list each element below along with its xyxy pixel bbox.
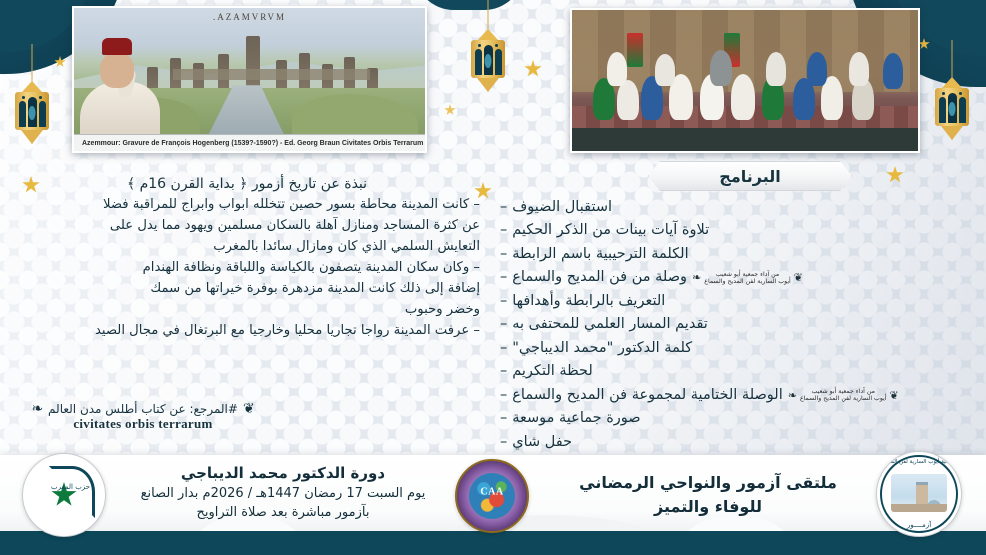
poster-canvas: AZAMVRVM. Azemmour: Gravure de François … xyxy=(0,0,986,555)
history-paragraph: التعايش السلمي الذي كان ومازال سائدا بال… xyxy=(14,237,480,257)
program-item: التعريف بالرابطة وأهدافها – xyxy=(500,290,970,313)
program-item-label: التعريف بالرابطة وأهدافها xyxy=(512,290,665,313)
footer-event-title: ملتقى آزمور والنواحي الرمضاني للوفاء وال… xyxy=(548,471,868,519)
program-note-line2: أيوب السارية لفن المديح والسماع xyxy=(704,279,791,286)
lantern-cap xyxy=(22,81,42,92)
source-reference: ❦ #المرجع: عن كتاب أطلس مدن العالم ❧ civ… xyxy=(18,398,268,432)
history-title: نبذة عن تاريخ أزمور ﴿ بداية القرن 16م ﴾ xyxy=(14,176,480,192)
engraving-artwork: AZAMVRVM. xyxy=(74,8,425,151)
ornament-icon: ❦ xyxy=(794,272,803,284)
program-item-dash: – xyxy=(500,290,507,313)
program-item-dash: – xyxy=(500,266,507,289)
program-item-dash: – xyxy=(500,313,507,336)
history-paragraph: عن كثرة المساجد ومنازل آهلة بالسكان مسلم… xyxy=(14,216,480,236)
group-photo-content xyxy=(572,10,918,151)
ornament-icon: ❧ xyxy=(31,401,43,417)
engraving-caption-year: 1572 xyxy=(423,140,427,147)
program-item: ❦ من آداء جمعية أبو شعيب أيوب السارية لف… xyxy=(500,384,970,407)
program-item-label: حفل شاي xyxy=(512,431,572,454)
program-note-line2: أيوب السارية لفن المديح والسماع xyxy=(800,396,887,403)
program-item-label: كلمة الدكتور "محمد الديباجي" xyxy=(512,337,692,360)
logo-caa: CAA xyxy=(455,459,529,533)
program-item-label: لحظة التكريم xyxy=(512,360,593,383)
footer-session-info: دورة الدكتور محمد الديباجي يوم السبت 17 … xyxy=(118,463,448,522)
logo-left-label: حزب المغرب xyxy=(51,484,90,492)
source-reference-arabic: #المرجع: عن كتاب أطلس مدن العالم xyxy=(48,402,238,416)
program-item-note: ❦ من آداء جمعية أبو شعيب أيوب السارية لف… xyxy=(788,389,899,403)
lantern-panes xyxy=(15,92,49,130)
footer-event-title-line1: ملتقى آزمور والنواحي الرمضاني xyxy=(548,471,868,495)
ornament-icon: ❦ xyxy=(889,390,898,402)
program-item: كلمة الدكتور "محمد الديباجي" – xyxy=(500,337,970,360)
lantern-glow xyxy=(29,106,36,120)
program-item-label: وصلة من فن المديح والسماع xyxy=(512,266,687,289)
lantern-panes xyxy=(471,40,505,78)
history-paragraph: إضافة إلى ذلك كانت المدينة مزدهرة بوفرة … xyxy=(14,279,480,299)
history-paragraph: – عرفت المدينة رواجا تجاريا محليا وخارجي… xyxy=(14,321,480,341)
lantern-base xyxy=(21,130,43,144)
program-banner-label: البرنامج xyxy=(719,167,780,186)
program-banner: البرنامج xyxy=(648,161,852,191)
program-item-dash: – xyxy=(500,360,507,383)
ornament-icon: ❦ xyxy=(243,401,255,417)
speaker-portrait xyxy=(76,38,168,134)
program-item: حفل شاي – xyxy=(500,431,970,454)
lantern-body xyxy=(15,81,49,144)
footer-event-title-line2: للوفاء والتميز xyxy=(548,495,868,519)
program-item: استقبال الضيوف – xyxy=(500,196,970,219)
program-item-note: ❦ من آداء جمعية أبو شعيب أيوب السارية لف… xyxy=(692,272,803,286)
ornament-icon: ❧ xyxy=(692,272,701,284)
program-item-dash: – xyxy=(500,407,507,430)
lantern-cap xyxy=(942,77,962,88)
program-item: الكلمة الترحيبية باسم الرابطة – xyxy=(500,243,970,266)
engraving-caption-text: Azemmour: Gravure de François Hogenberg … xyxy=(74,140,423,147)
footer-session-place: بآزمور مباشرة بعد صلاة التراويح xyxy=(118,504,448,523)
history-paragraph: – كانت المدينة محاطة بسور حصين تتخلله اب… xyxy=(14,195,480,215)
footer-session-date: يوم السبت 17 رمضان 1447هـ / 2026م بدار ا… xyxy=(118,485,448,504)
engraving-caption-bar: Azemmour: Gravure de François Hogenberg … xyxy=(74,134,425,151)
source-reference-arabic-row: ❦ #المرجع: عن كتاب أطلس مدن العالم ❧ xyxy=(31,401,254,417)
lantern-body xyxy=(935,77,969,140)
logo-morocco-party: حزب المغرب xyxy=(22,453,106,537)
program-item: تقديم المسار العلمي للمحتفى به – xyxy=(500,313,970,336)
history-paragraph: – وكان سكان المدينة يتصفون بالكياسة والل… xyxy=(14,258,480,278)
engraving-plate-title: AZAMVRVM. xyxy=(74,12,425,22)
lantern-panes xyxy=(935,88,969,126)
program-item-label: تلاوة آيات بينات من الذكر الحكيم xyxy=(512,219,709,242)
program-item-dash: – xyxy=(500,337,507,360)
lantern-base xyxy=(941,126,963,140)
program-item: تلاوة آيات بينات من الذكر الحكيم – xyxy=(500,219,970,242)
mosque-illustration xyxy=(891,474,947,512)
group-photo-image xyxy=(570,8,920,153)
program-item-dash: – xyxy=(500,431,507,454)
logo-right-bottom-label: آزمــــور xyxy=(877,521,961,529)
lantern-base xyxy=(477,78,499,92)
program-item-label: الوصلة الختامية لمجموعة فن المديح والسما… xyxy=(512,384,783,407)
logo-right-top-label: جمعية أيوب السارية لفن المديح xyxy=(877,459,961,465)
program-item-dash: – xyxy=(500,219,507,242)
lantern-cap xyxy=(478,29,498,40)
lantern-body xyxy=(471,29,505,92)
program-item-label: تقديم المسار العلمي للمحتفى به xyxy=(512,313,708,336)
program-item: لحظة التكريم – xyxy=(500,360,970,383)
lantern-icon-left xyxy=(14,44,50,144)
lantern-icon-right xyxy=(934,40,970,140)
lantern-glow xyxy=(485,54,492,68)
footer-session-title: دورة الدكتور محمد الديباجي xyxy=(118,463,448,485)
program-item-dash: – xyxy=(500,243,507,266)
history-text-block: نبذة عن تاريخ أزمور ﴿ بداية القرن 16م ﴾ … xyxy=(14,176,480,342)
ornament-icon: ❧ xyxy=(788,390,797,402)
footer-teal-strip xyxy=(0,531,986,555)
footer-bar: حزب المغرب CAA جمعية أيوب السارية لفن ال… xyxy=(0,455,986,555)
logo-association-azemmour: جمعية أيوب السارية لفن المديح آزمــــور xyxy=(876,451,962,537)
source-reference-latin: civitates orbis terrarum xyxy=(18,416,268,432)
program-item-dash: – xyxy=(500,384,507,407)
program-item-label: استقبال الضيوف xyxy=(512,196,612,219)
program-list: استقبال الضيوف – تلاوة آيات بينات من الذ… xyxy=(500,196,970,454)
lantern-icon-center xyxy=(470,0,506,92)
program-item-dash: – xyxy=(500,196,507,219)
program-item: ❦ من آداء جمعية أبو شعيب أيوب السارية لف… xyxy=(500,266,970,289)
lantern-glow xyxy=(949,102,956,116)
program-item-label: صورة جماعية موسعة xyxy=(512,407,640,430)
history-paragraph: وخضر وحبوب xyxy=(14,300,480,320)
program-item: صورة جماعية موسعة – xyxy=(500,407,970,430)
program-item-label: الكلمة الترحيبية باسم الرابطة xyxy=(512,243,688,266)
engraving-image-azemmour: AZAMVRVM. Azemmour: Gravure de François … xyxy=(72,6,427,153)
logo-center-acronym: CAA xyxy=(480,486,503,497)
